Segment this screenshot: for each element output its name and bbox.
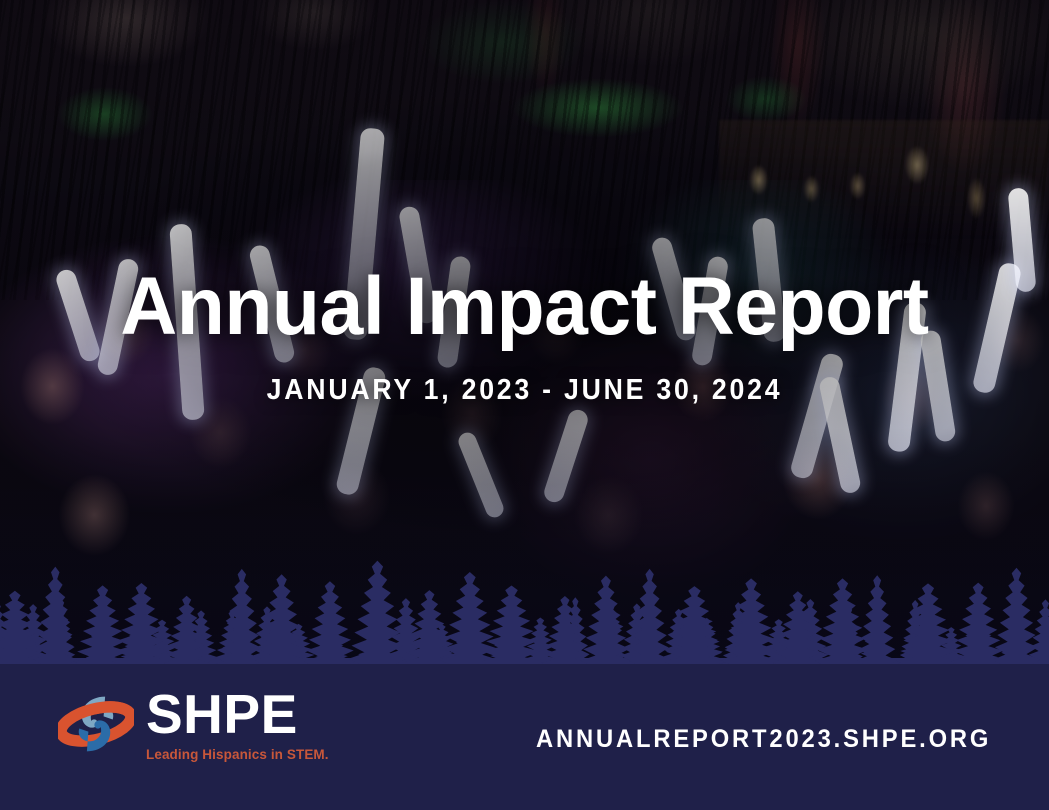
report-url[interactable]: ANNUALREPORT2023.SHPE.ORG: [536, 725, 991, 754]
report-date-range: JANUARY 1, 2023 - JUNE 30, 2024: [42, 374, 1007, 407]
pine-forest-border: [0, 540, 1049, 672]
shpe-wordmark-group: SHPE Leading Hispanics in STEM.: [146, 687, 329, 762]
shpe-logo-lockup[interactable]: SHPE Leading Hispanics in STEM.: [58, 686, 329, 762]
pine-tree: [301, 575, 359, 672]
cover-footer: SHPE Leading Hispanics in STEM. ANNUALRE…: [0, 664, 1049, 810]
shpe-swoosh-icon: [58, 686, 134, 762]
shpe-wordmark: SHPE: [146, 687, 329, 742]
shpe-tagline: Leading Hispanics in STEM.: [146, 748, 329, 762]
annual-report-cover: Annual Impact Report JANUARY 1, 2023 - J…: [0, 0, 1049, 810]
page-title: Annual Impact Report: [21, 266, 1028, 348]
cover-title-block: Annual Impact Report JANUARY 1, 2023 - J…: [0, 266, 1049, 407]
